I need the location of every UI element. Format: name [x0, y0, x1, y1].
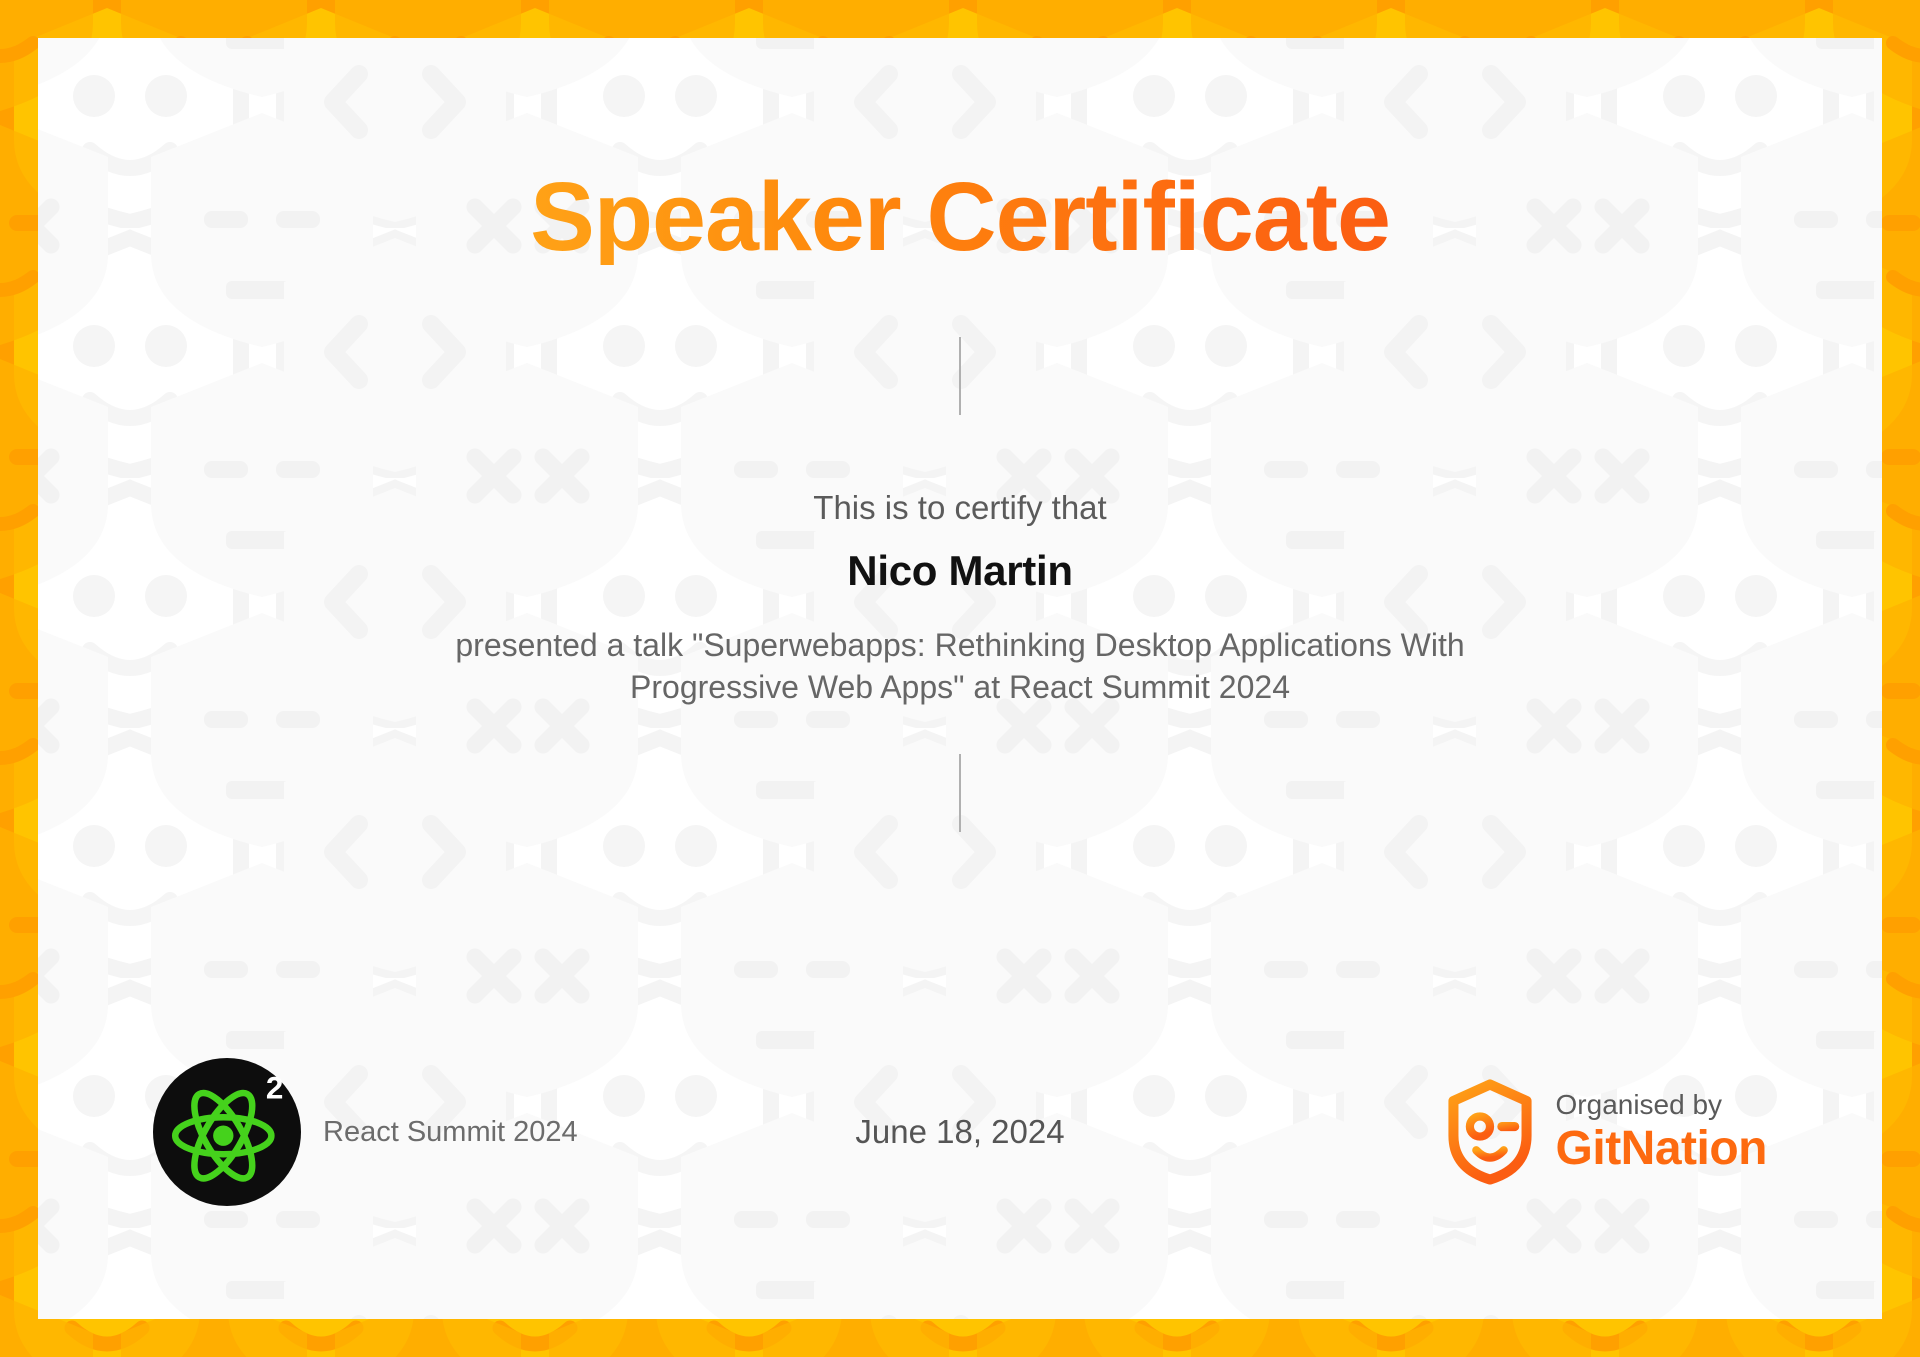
certificate-card: Speaker Certificate This is to certify t… — [38, 38, 1882, 1319]
react-logo-superscript: 2 — [266, 1071, 283, 1106]
event-label: React Summit 2024 — [323, 1116, 578, 1149]
event-branding: 2 React Summit 2024 — [153, 1058, 578, 1206]
organiser-name: GitNation — [1556, 1124, 1767, 1174]
talk-description: presented a talk "Superwebapps: Rethinki… — [405, 625, 1515, 708]
shield-face-icon — [1446, 1079, 1534, 1185]
organiser-branding: Organised by GitNation — [1446, 1079, 1767, 1185]
react-atom-icon: 2 — [153, 1058, 301, 1206]
certificate-footer: 2 React Summit 2024 June 18, 2024 — [38, 1057, 1882, 1207]
organised-by-label: Organised by — [1556, 1090, 1767, 1119]
certificate-root: Speaker Certificate This is to certify t… — [0, 0, 1920, 1357]
certify-line: This is to certify that — [813, 489, 1106, 527]
recipient-name: Nico Martin — [847, 547, 1072, 595]
page-title: Speaker Certificate — [530, 168, 1390, 265]
divider-top — [959, 337, 961, 415]
divider-bottom — [959, 754, 961, 832]
certificate-date: June 18, 2024 — [855, 1113, 1064, 1151]
